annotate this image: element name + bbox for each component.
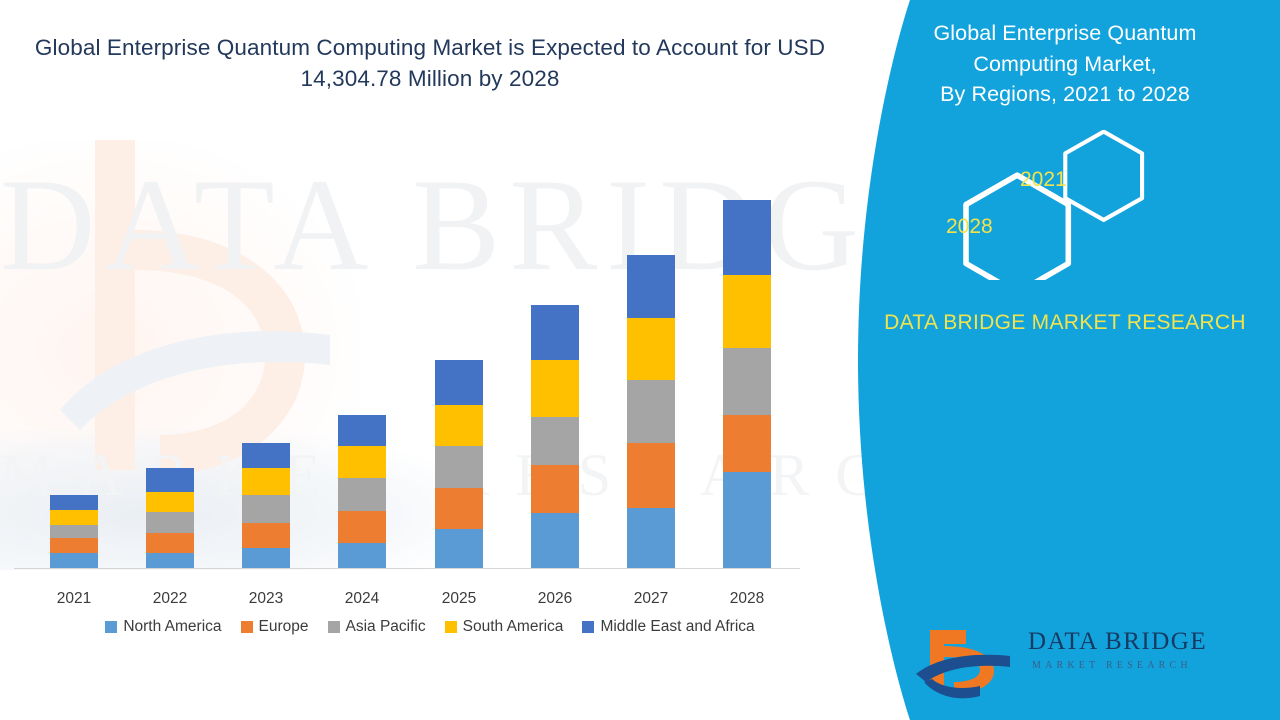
bar-segment[interactable]: [50, 525, 98, 538]
bar-stack-2025[interactable]: [435, 360, 483, 568]
hexagon-outlines-icon: [850, 130, 1280, 280]
bar-segment[interactable]: [723, 275, 771, 348]
brand-logo: DATA BRIDGE MARKET RESEARCH: [910, 620, 1250, 710]
legend-item-north-america[interactable]: North America: [105, 618, 221, 636]
bar-segment[interactable]: [242, 548, 290, 568]
plot-area: 20212022202320242025202620272028: [0, 0, 900, 720]
bar-segment[interactable]: [50, 510, 98, 525]
bar-segment[interactable]: [242, 495, 290, 523]
bar-segment[interactable]: [50, 538, 98, 553]
bar-segment[interactable]: [531, 417, 579, 465]
databridge-mark-icon: [910, 622, 1020, 702]
bar-segment[interactable]: [723, 415, 771, 472]
legend-label: South America: [463, 618, 564, 636]
brand-title: Global Enterprise Quantum Computing Mark…: [880, 18, 1250, 110]
bar-segment[interactable]: [338, 446, 386, 478]
x-tick-2025: 2025: [414, 590, 504, 608]
x-axis-line: [14, 568, 800, 569]
bar-segment[interactable]: [338, 415, 386, 446]
watermark-logo-icon: [40, 110, 360, 510]
bar-segment[interactable]: [435, 488, 483, 529]
legend-item-middle-east-and-africa[interactable]: Middle East and Africa: [582, 618, 754, 636]
bar-segment[interactable]: [50, 553, 98, 568]
bar-segment[interactable]: [723, 200, 771, 275]
legend-swatch-icon: [582, 621, 594, 633]
bar-segment[interactable]: [435, 446, 483, 488]
chart-legend: North AmericaEuropeAsia PacificSouth Ame…: [0, 618, 860, 636]
bar-segment[interactable]: [338, 478, 386, 511]
bar-segment[interactable]: [531, 360, 579, 417]
bar-segment[interactable]: [435, 405, 483, 446]
bar-segment[interactable]: [242, 443, 290, 468]
chart-panel: DATA BRIDGE MARKET RESEARCH Global Enter…: [0, 0, 900, 720]
bar-segment[interactable]: [531, 465, 579, 513]
bar-segment[interactable]: [723, 348, 771, 415]
bar-stack-2024[interactable]: [338, 415, 386, 568]
bar-segment[interactable]: [242, 523, 290, 548]
legend-item-south-america[interactable]: South America: [445, 618, 564, 636]
bar-segment[interactable]: [627, 318, 675, 380]
legend-label: Asia Pacific: [346, 618, 426, 636]
bar-segment[interactable]: [627, 443, 675, 508]
bar-stack-2028[interactable]: [723, 200, 771, 568]
legend-swatch-icon: [445, 621, 457, 633]
legend-swatch-icon: [241, 621, 253, 633]
hex-label-2028: 2028: [946, 215, 993, 239]
legend-item-asia-pacific[interactable]: Asia Pacific: [328, 618, 426, 636]
bar-stack-2026[interactable]: [531, 305, 579, 568]
bar-segment[interactable]: [242, 468, 290, 495]
hex-label-2021: 2021: [1020, 168, 1067, 192]
x-tick-2027: 2027: [606, 590, 696, 608]
bar-segment[interactable]: [723, 472, 771, 568]
bar-segment[interactable]: [50, 495, 98, 510]
legend-swatch-icon: [328, 621, 340, 633]
bar-segment[interactable]: [627, 508, 675, 568]
legend-label: Europe: [259, 618, 309, 636]
bar-segment[interactable]: [435, 360, 483, 405]
legend-item-europe[interactable]: Europe: [241, 618, 309, 636]
bar-segment[interactable]: [146, 492, 194, 512]
bar-segment[interactable]: [146, 468, 194, 492]
bar-stack-2027[interactable]: [627, 255, 675, 568]
bar-segment[interactable]: [338, 511, 386, 543]
legend-label: North America: [123, 618, 221, 636]
legend-label: Middle East and Africa: [600, 618, 754, 636]
x-tick-2022: 2022: [125, 590, 215, 608]
x-tick-2024: 2024: [317, 590, 407, 608]
brand-panel: Global Enterprise Quantum Computing Mark…: [850, 0, 1280, 720]
bar-segment[interactable]: [627, 380, 675, 443]
logo-main-text: DATA BRIDGE: [1028, 628, 1207, 656]
legend-swatch-icon: [105, 621, 117, 633]
hexagon-badges: 2028 2021: [850, 130, 1280, 270]
bar-segment[interactable]: [435, 529, 483, 568]
bar-stack-2021[interactable]: [50, 495, 98, 568]
bar-segment[interactable]: [146, 512, 194, 533]
bar-segment[interactable]: [146, 533, 194, 553]
bar-segment[interactable]: [146, 553, 194, 568]
brand-name: DATA BRIDGE MARKET RESEARCH: [865, 308, 1265, 338]
bar-stack-2023[interactable]: [242, 443, 290, 568]
x-tick-2028: 2028: [702, 590, 792, 608]
chart-title: Global Enterprise Quantum Computing Mark…: [30, 32, 830, 94]
x-tick-2026: 2026: [510, 590, 600, 608]
bar-segment[interactable]: [627, 255, 675, 318]
bar-segment[interactable]: [338, 543, 386, 568]
logo-sub-text: MARKET RESEARCH: [1032, 660, 1192, 671]
bar-segment[interactable]: [531, 305, 579, 360]
x-tick-2023: 2023: [221, 590, 311, 608]
x-tick-2021: 2021: [29, 590, 119, 608]
bar-segment[interactable]: [531, 513, 579, 568]
bar-stack-2022[interactable]: [146, 468, 194, 568]
